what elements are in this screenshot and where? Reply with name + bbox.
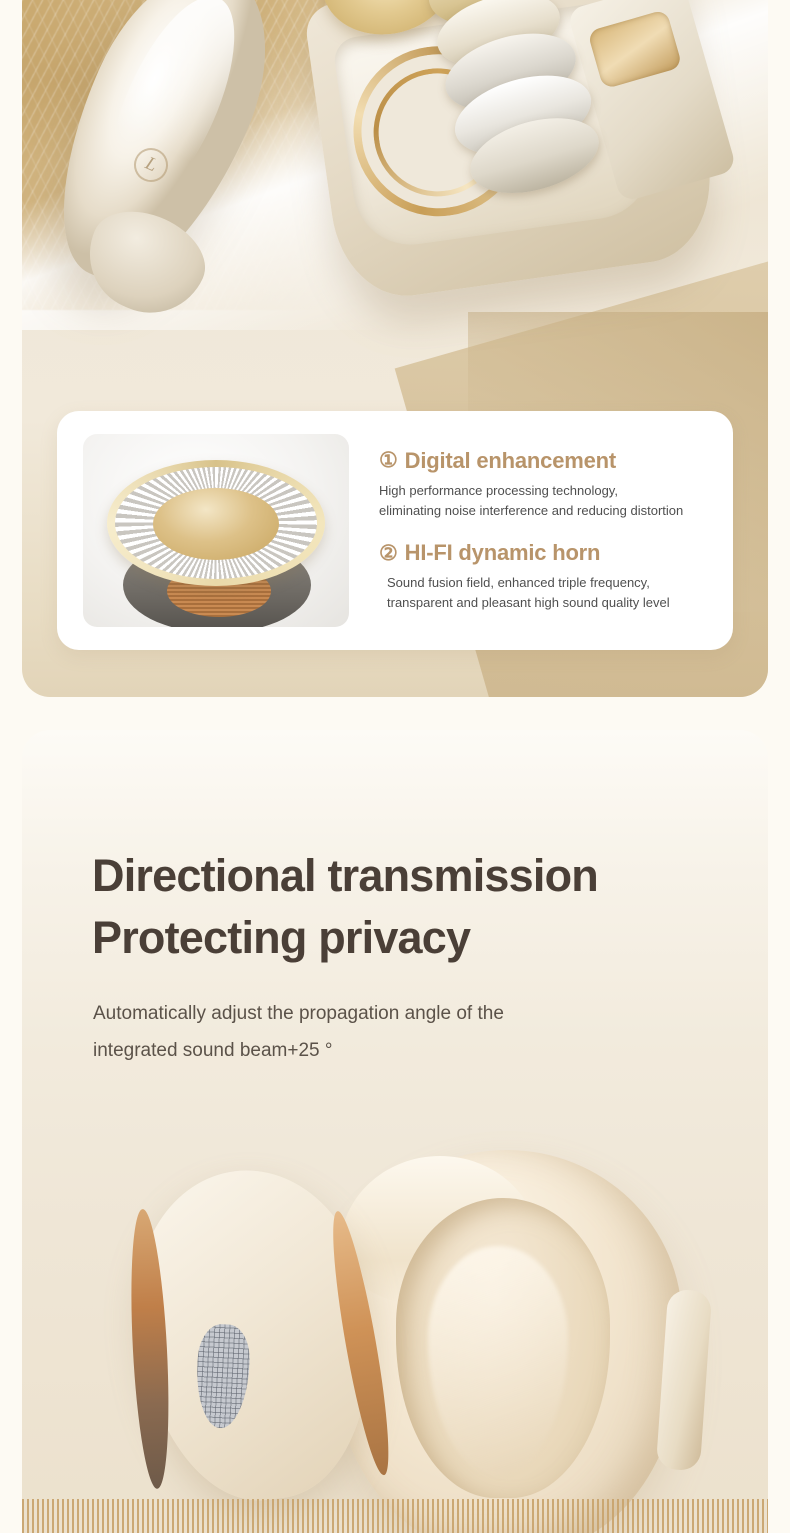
feature-number-1: ① xyxy=(379,450,398,471)
driver-outer-ring xyxy=(107,460,325,586)
feature-body-2-line-1: Sound fusion field, enhanced triple freq… xyxy=(387,573,707,593)
feature-body-1: High performance processing technology, … xyxy=(379,481,707,521)
headline-line-2: Protecting privacy xyxy=(92,907,732,969)
directional-transmission-panel: Directional transmission Protecting priv… xyxy=(22,730,768,1533)
page-headline: Directional transmission Protecting priv… xyxy=(92,845,732,969)
sound-wave-decoration xyxy=(22,1393,768,1533)
feature-block-digital-enhancement: ① Digital enhancement High performance p… xyxy=(379,448,707,521)
headline-line-1: Directional transmission xyxy=(92,845,732,907)
feature-text-column: ① Digital enhancement High performance p… xyxy=(349,448,707,614)
feature-body-2-line-2: transparent and pleasant high sound qual… xyxy=(387,593,707,613)
feature-heading-2: ② HI-FI dynamic horn xyxy=(379,540,707,566)
subtitle-line-1: Automatically adjust the propagation ang… xyxy=(93,995,693,1032)
feature-heading-1: ① Digital enhancement xyxy=(379,448,707,474)
page-subtitle: Automatically adjust the propagation ang… xyxy=(93,995,693,1069)
feature-card: ① Digital enhancement High performance p… xyxy=(57,411,733,650)
feature-title-1: Digital enhancement xyxy=(405,448,616,474)
feature-body-1-line-1: High performance processing technology, xyxy=(379,481,707,501)
driver-dome xyxy=(153,488,279,560)
feature-title-2: HI-FI dynamic horn xyxy=(405,540,601,566)
feature-block-hifi-horn: ② HI-FI dynamic horn Sound fusion field,… xyxy=(379,540,707,613)
feature-number-2: ② xyxy=(379,543,398,564)
driver-technology-panel: L xyxy=(22,0,768,697)
feature-body-2: Sound fusion field, enhanced triple freq… xyxy=(379,573,707,613)
subtitle-line-2: integrated sound beam+25 ° xyxy=(93,1032,693,1069)
feature-body-1-line-2: eliminating noise interference and reduc… xyxy=(379,501,707,521)
speaker-driver-image xyxy=(83,434,349,627)
product-marketing-page: L xyxy=(0,0,790,1533)
